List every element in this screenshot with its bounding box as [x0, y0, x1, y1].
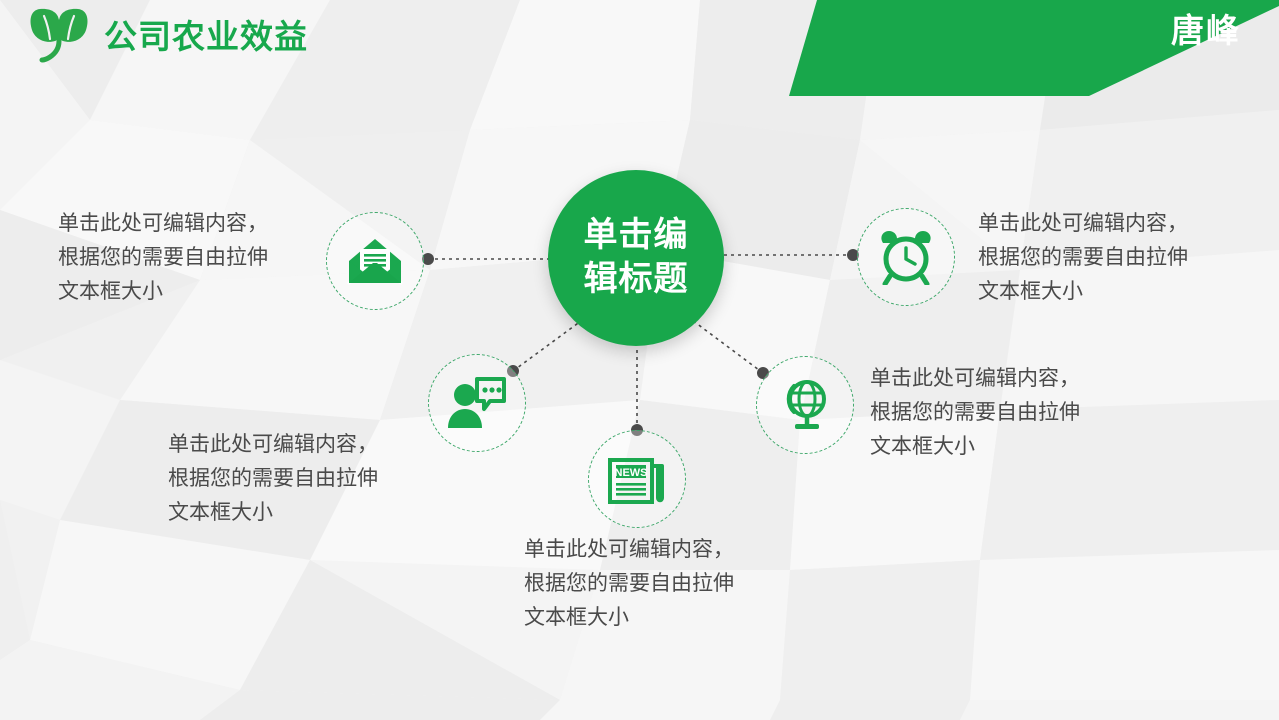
header-title: 公司农业效益	[104, 20, 308, 53]
news-icon-label: NEWS	[615, 467, 648, 479]
slide-canvas: 公司农业效益 唐峰 单击编 辑标题	[0, 0, 1279, 720]
globe-stand-icon	[777, 377, 833, 433]
envelope-icon	[347, 237, 403, 285]
alarm-clock-icon	[877, 229, 935, 285]
center-node[interactable]: 单击编 辑标题	[548, 170, 724, 346]
connector-globe	[692, 320, 763, 373]
node-globe[interactable]	[756, 356, 854, 454]
center-node-label: 单击编 辑标题	[584, 214, 689, 301]
caption-mail: 单击此处可编辑内容， 根据您的需要自由拉伸 文本框大小	[58, 207, 328, 309]
node-clock[interactable]	[857, 208, 955, 306]
header-logo: 公司农业效益	[28, 8, 308, 64]
caption-clock: 单击此处可编辑内容， 根据您的需要自由拉伸 文本框大小	[978, 207, 1258, 309]
caption-chat: 单击此处可编辑内容， 根据您的需要自由拉伸 文本框大小	[168, 428, 438, 530]
person-chat-icon	[446, 376, 508, 430]
caption-globe: 单击此处可编辑内容， 根据您的需要自由拉伸 文本框大小	[870, 362, 1155, 464]
leaf-icon	[28, 8, 90, 64]
newspaper-icon: NEWS	[608, 454, 666, 504]
node-mail[interactable]	[326, 212, 424, 310]
connector-chat	[513, 318, 585, 371]
node-news[interactable]: NEWS	[588, 430, 686, 528]
caption-news: 单击此处可编辑内容， 根据您的需要自由拉伸 文本框大小	[524, 533, 814, 635]
author-name: 唐峰	[1171, 14, 1241, 47]
node-chat[interactable]	[428, 354, 526, 452]
